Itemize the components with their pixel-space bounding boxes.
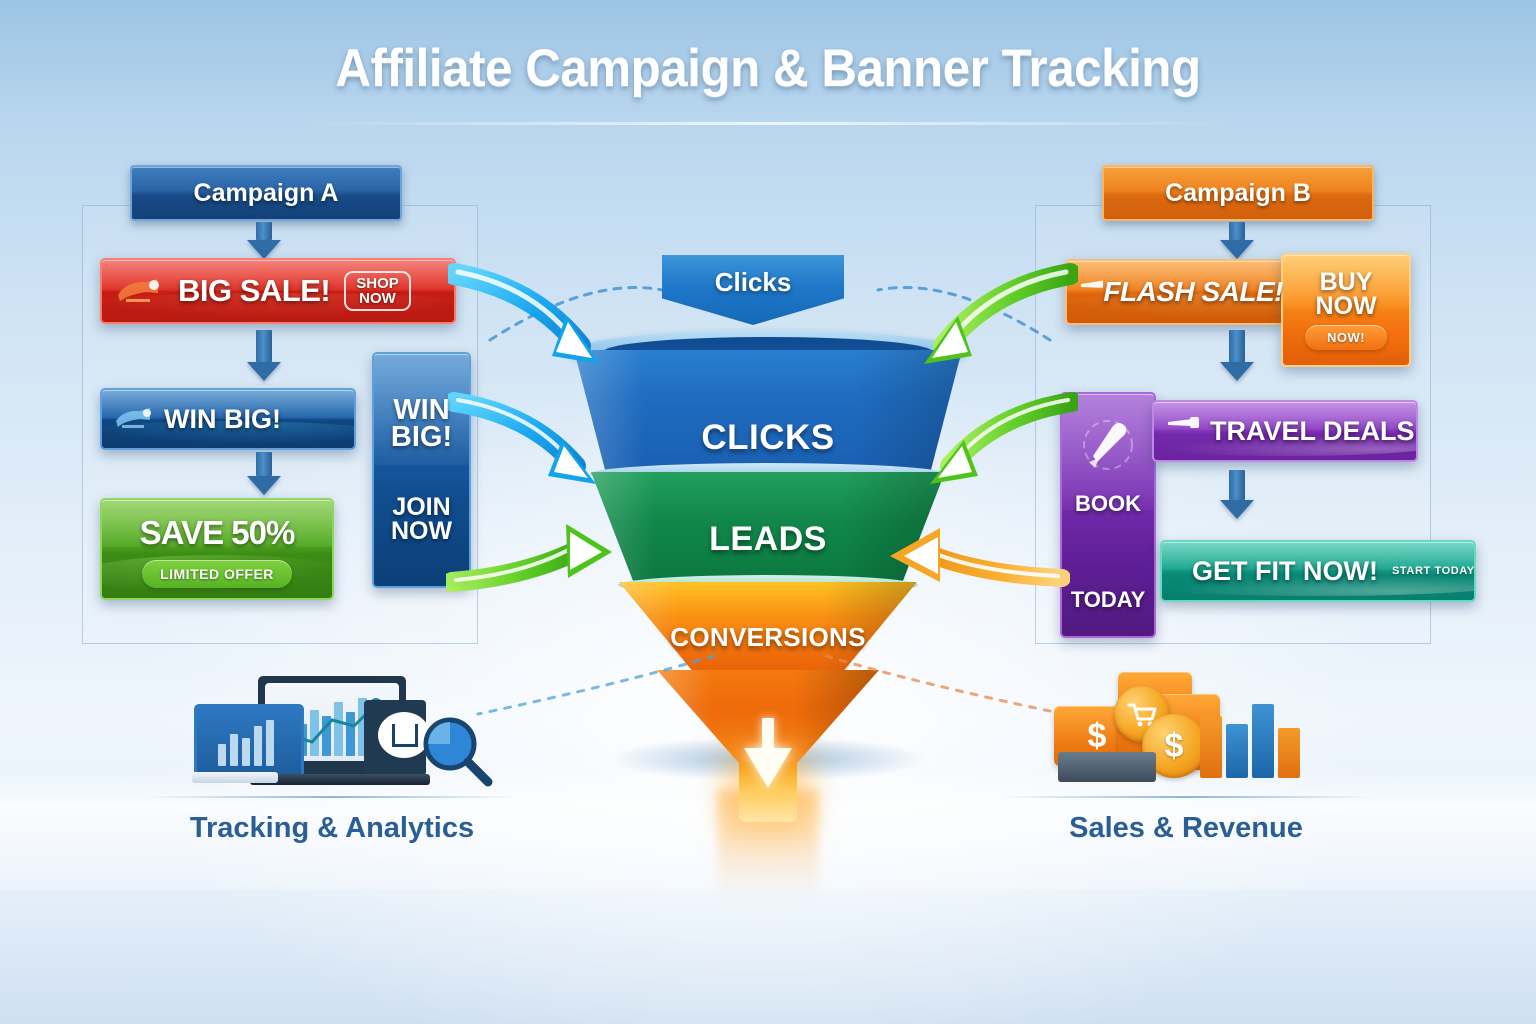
banner-win-big-text: WIN BIG!: [164, 404, 281, 435]
magnifier-icon: [420, 714, 494, 788]
footer-label-tracking: Tracking & Analytics: [146, 812, 518, 845]
shop-now-line2: NOW: [356, 291, 399, 306]
banner-get-fit-text: GET FIT NOW!: [1192, 556, 1378, 587]
clicks-pennant-label: Clicks: [662, 267, 844, 298]
keyboard-icon: [1058, 752, 1156, 782]
connector-arrow-a1: [247, 222, 281, 259]
megaphone-icon: [1077, 270, 1103, 300]
airplane-icon: [1073, 412, 1143, 482]
clicks-pennant: Clicks: [662, 255, 844, 325]
page-title: Affiliate Campaign & Banner Tracking: [54, 38, 1482, 99]
skyscraper-book-today[interactable]: BOOK TODAY: [1060, 392, 1156, 638]
sales-rule: [1000, 796, 1372, 798]
banner-travel-deals-text: TRAVEL DEALS: [1210, 416, 1415, 447]
skyscraper-join-line2: NOW: [391, 520, 452, 544]
campaign-b-header[interactable]: Campaign B: [1102, 165, 1374, 221]
megaphone-icon: [112, 271, 172, 311]
buy-now-line1: BUY: [1320, 270, 1373, 294]
book-today-line1: BOOK: [1075, 493, 1141, 515]
funnel-label-clicks: CLICKS: [566, 418, 970, 458]
shop-now-button[interactable]: SHOP NOW: [344, 271, 411, 311]
banner-flash-sale-text: FLASH SALE!: [1103, 276, 1283, 308]
funnel-label-leads: LEADS: [566, 520, 970, 559]
now-button[interactable]: NOW!: [1305, 325, 1387, 350]
banner-big-sale-text: BIG SALE!: [178, 273, 330, 309]
start-today-tag[interactable]: START TODAY: [1392, 565, 1475, 577]
skyscraper-join-line1: JOIN: [392, 496, 450, 520]
funnel-output-arrow-icon: [744, 748, 792, 788]
connector-arrow-b1: [1220, 222, 1254, 259]
connector-arrow-a2: [247, 330, 281, 381]
shop-now-line1: SHOP: [356, 276, 399, 291]
connector-arrow-b2: [1220, 330, 1254, 381]
conversion-funnel: CLICKS LEADS CONVERSIONS: [566, 330, 970, 750]
skyscraper-win-big[interactable]: WIN BIG! JOIN NOW: [372, 352, 471, 588]
banner-travel-deals[interactable]: TRAVEL DEALS: [1152, 400, 1418, 462]
infographic-canvas: Affiliate Campaign & Banner Tracking Cam…: [0, 0, 1536, 1024]
banner-save-50[interactable]: SAVE 50% LIMITED OFFER: [100, 498, 334, 600]
connector-arrow-b3: [1220, 470, 1254, 519]
skyscraper-win-line2: BIG!: [391, 424, 452, 452]
skyscraper-win-line1: WIN: [393, 397, 449, 425]
limited-offer-button[interactable]: LIMITED OFFER: [142, 560, 292, 588]
connector-arrow-a3: [247, 452, 281, 495]
campaign-a-header[interactable]: Campaign A: [130, 165, 402, 221]
banner-save-50-text: SAVE 50%: [140, 514, 295, 552]
square-ad-buy-now[interactable]: BUY NOW NOW!: [1281, 253, 1411, 367]
footer-label-sales: Sales & Revenue: [1000, 812, 1372, 845]
bubble-glyph: [392, 724, 418, 747]
tracking-rule: [146, 796, 518, 798]
book-today-line2: TODAY: [1071, 589, 1146, 611]
megaphone-icon: [1164, 410, 1214, 436]
title-divider: [300, 122, 1236, 125]
megaphone-icon: [110, 401, 162, 437]
banner-get-fit-now[interactable]: GET FIT NOW! START TODAY: [1160, 540, 1476, 602]
funnel-label-conversions: CONVERSIONS: [566, 622, 970, 653]
sales-illustration: $ $: [1040, 666, 1330, 792]
banner-win-big[interactable]: WIN BIG!: [100, 388, 356, 450]
banner-flash-sale[interactable]: FLASH SALE!: [1065, 259, 1285, 325]
banner-big-sale[interactable]: BIG SALE! SHOP NOW: [100, 258, 456, 324]
buy-now-line2: NOW: [1315, 294, 1376, 318]
tracking-illustration: [170, 672, 490, 792]
